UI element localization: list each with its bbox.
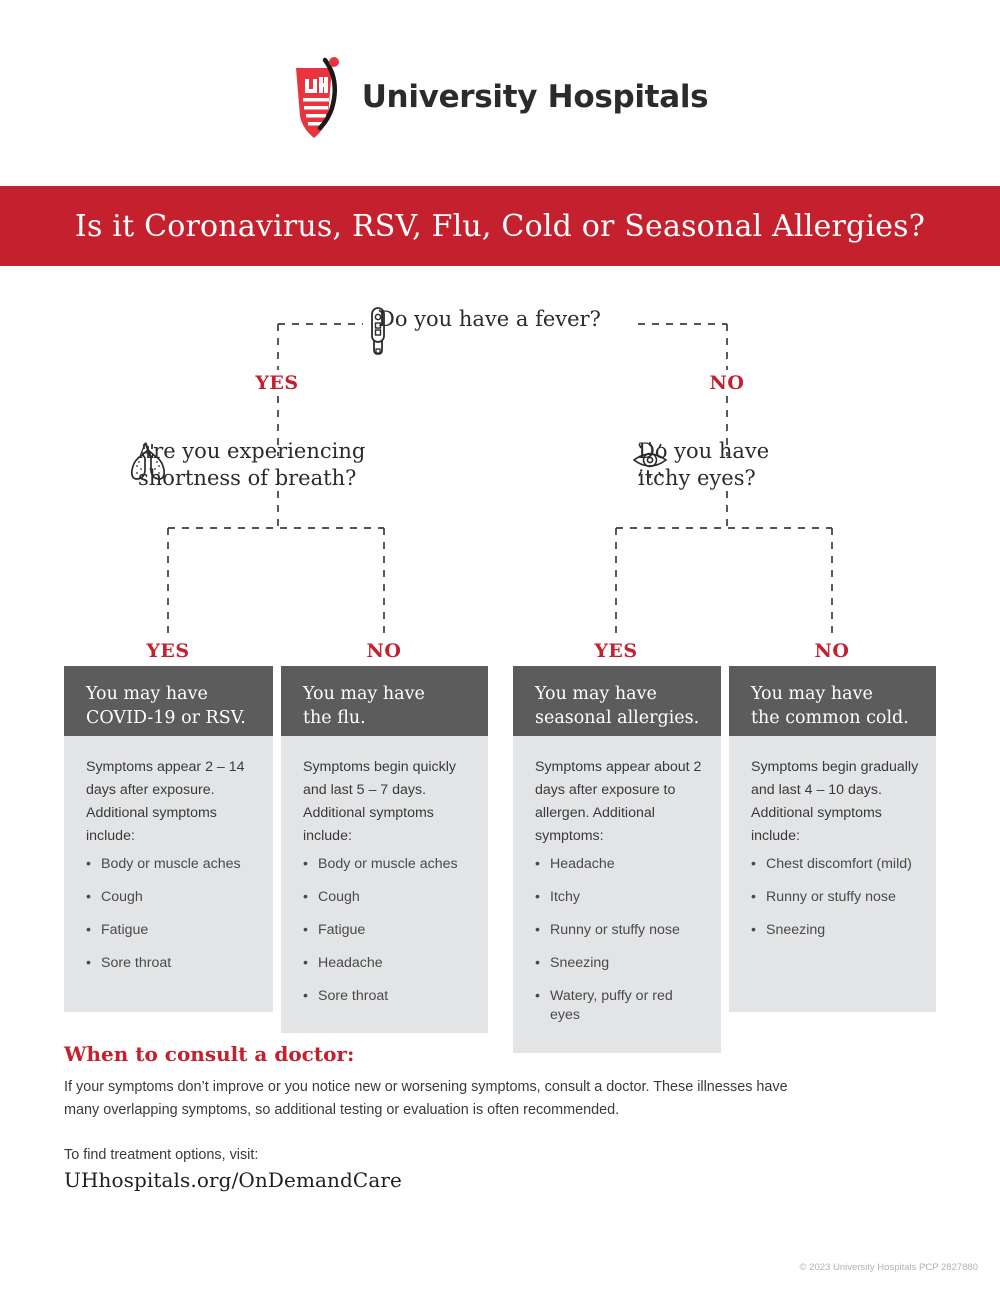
heading-line2: the common cold. (751, 708, 909, 728)
symptom-item: Runny or stuffy nose (751, 888, 920, 921)
result-card-body: Symptoms begin gradually and last 4 – 10… (729, 736, 936, 1012)
result-card-intro: Symptoms appear about 2 days after expos… (535, 756, 705, 848)
heading-line2: seasonal allergies. (535, 708, 699, 728)
symptom-list: Chest discomfort (mild) Runny or stuffy … (751, 855, 920, 954)
symptom-list: Body or muscle aches Cough Fatigue Sore … (86, 855, 257, 987)
question-breath-line2: shortness of breath? (138, 466, 356, 490)
symptom-item: Sneezing (751, 921, 920, 954)
question-itchy-eyes: Do you have itchy eyes? (628, 438, 769, 492)
heading-line2: COVID-19 or RSV. (86, 708, 246, 728)
symptom-list: Headache Itchy Runny or stuffy nose Snee… (535, 855, 705, 1039)
symptom-item: Watery, puffy or red eyes (535, 987, 705, 1040)
question-fever: Do you have a fever? (368, 306, 601, 333)
symptom-list: Body or muscle aches Cough Fatigue Heada… (303, 855, 472, 1019)
symptom-item: Headache (535, 855, 705, 888)
result-card-body: Symptoms appear about 2 days after expos… (513, 736, 721, 1053)
heading-line1: You may have (303, 684, 425, 704)
brand-name: University Hospitals (362, 82, 709, 113)
heading-line1: You may have (86, 684, 208, 704)
page-title: Is it Coronavirus, RSV, Flu, Cold or Sea… (75, 209, 925, 244)
title-banner: Is it Coronavirus, RSV, Flu, Cold or Sea… (0, 186, 1000, 266)
copyright-notice: © 2023 University Hospitals PCP 2827880 (800, 1262, 978, 1273)
result-card-heading: You may have COVID-19 or RSV. (64, 666, 273, 736)
symptom-item: Cough (86, 888, 257, 921)
result-card-heading: You may have the flu. (281, 666, 488, 736)
question-breath-line1: Are you experiencing (138, 439, 365, 463)
answer-fever-yes: YES (237, 372, 317, 394)
consult-doctor-heading: When to consult a doctor: (64, 1042, 824, 1066)
symptom-item: Sore throat (303, 987, 472, 1020)
cta-label: To find treatment options, visit: (64, 1144, 824, 1167)
symptom-item: Fatigue (86, 921, 257, 954)
heading-line2: the flu. (303, 708, 366, 728)
brand-logo: University Hospitals (0, 52, 1000, 142)
symptom-item: Body or muscle aches (303, 855, 472, 888)
heading-line1: You may have (535, 684, 657, 704)
result-card-flu: You may have the flu. Symptoms begin qui… (281, 666, 488, 1012)
result-cards: You may have COVID-19 or RSV. Symptoms a… (0, 666, 1000, 1014)
consult-doctor-section: When to consult a doctor: If your sympto… (64, 1042, 824, 1192)
result-card-heading: You may have the common cold. (729, 666, 936, 736)
symptom-item: Chest discomfort (mild) (751, 855, 920, 888)
answer-eyes-no: NO (792, 640, 872, 662)
symptom-item: Fatigue (303, 921, 472, 954)
decision-flow: Do you have a fever? (0, 266, 1000, 666)
heading-line1: You may have (751, 684, 873, 704)
symptom-item: Sneezing (535, 954, 705, 987)
result-card-seasonal-allergies: You may have seasonal allergies. Symptom… (513, 666, 721, 1012)
question-fever-text: Do you have a fever? (378, 306, 601, 333)
uh-shield-logo-icon (292, 54, 344, 140)
symptom-item: Itchy (535, 888, 705, 921)
symptom-item: Body or muscle aches (86, 855, 257, 888)
infographic-page: University Hospitals Is it Coronavirus, … (0, 0, 1000, 1294)
symptom-item: Cough (303, 888, 472, 921)
symptom-item: Sore throat (86, 954, 257, 987)
result-card-body: Symptoms appear 2 – 14 days after exposu… (64, 736, 273, 1012)
symptom-item: Headache (303, 954, 472, 987)
answer-fever-no: NO (687, 372, 767, 394)
result-card-heading: You may have seasonal allergies. (513, 666, 721, 736)
result-card-intro: Symptoms begin quickly and last 5 – 7 da… (303, 756, 472, 848)
result-card-intro: Symptoms appear 2 – 14 days after exposu… (86, 756, 257, 848)
answer-eyes-yes: YES (576, 640, 656, 662)
footer-spacer (64, 1122, 824, 1144)
result-card-common-cold: You may have the common cold. Symptoms b… (729, 666, 936, 1012)
result-card-body: Symptoms begin quickly and last 5 – 7 da… (281, 736, 488, 1033)
answer-breath-no: NO (344, 640, 424, 662)
question-shortness-of-breath: Are you experiencing shortness of breath… (128, 438, 365, 492)
consult-doctor-body: If your symptoms don’t improve or you no… (64, 1076, 824, 1122)
treatment-url[interactable]: UHhospitals.org/OnDemandCare (64, 1168, 824, 1192)
answer-breath-yes: YES (128, 640, 208, 662)
result-card-intro: Symptoms begin gradually and last 4 – 10… (751, 756, 920, 848)
symptom-item: Runny or stuffy nose (535, 921, 705, 954)
result-card-covid-rsv: You may have COVID-19 or RSV. Symptoms a… (64, 666, 273, 1012)
question-shortness-of-breath-text: Are you experiencing shortness of breath… (138, 438, 365, 492)
